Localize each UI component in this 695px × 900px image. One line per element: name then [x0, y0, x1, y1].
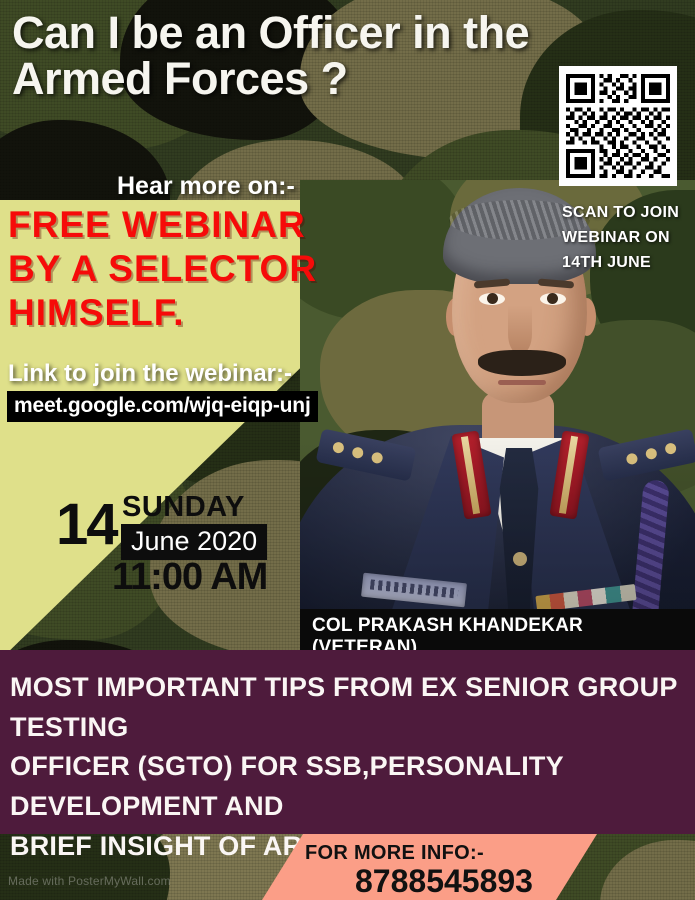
contact-phone[interactable]: 8788545893 [355, 863, 533, 900]
qr-caption: SCAN TO JOIN WEBINAR ON 14TH JUNE [562, 201, 692, 275]
promo-line-2: BY A SELECTOR [8, 247, 378, 291]
qr-code-container[interactable] [559, 66, 677, 186]
description-line-2: OFFICER (SGTO) FOR SSB,PERSONALITY DEVEL… [10, 747, 685, 826]
poster-canvas: Can I be an Officer in the Armed Forces … [0, 0, 695, 900]
qr-caption-line-1: SCAN TO JOIN [562, 201, 692, 226]
event-month-year: June 2020 [121, 524, 267, 560]
page-title: Can I be an Officer in the Armed Forces … [12, 10, 572, 102]
promo-text: FREE WEBINAR BY A SELECTOR HIMSELF. [8, 203, 378, 335]
promo-line-1: FREE WEBINAR [8, 203, 378, 247]
qr-code-icon [566, 73, 670, 179]
event-day-name: SUNDAY [122, 491, 245, 524]
hear-more-label: Hear more on:- [117, 172, 295, 201]
watermark: Made with PosterMyWall.com [8, 874, 171, 888]
webinar-link[interactable]: meet.google.com/wjq-eiqp-unj [7, 391, 318, 422]
description-line-1: MOST IMPORTANT TIPS FROM EX SENIOR GROUP… [10, 668, 685, 747]
link-label: Link to join the webinar:- [8, 360, 292, 388]
headline-line-1: Can I be an Officer in the [12, 7, 529, 58]
event-time: 11:00 AM [112, 556, 267, 599]
event-day-number: 14 [56, 496, 117, 554]
qr-caption-line-2: WEBINAR ON [562, 226, 692, 251]
promo-line-3: HIMSELF. [8, 291, 378, 335]
qr-caption-line-3: 14TH JUNE [562, 251, 692, 276]
headline-line-2: Armed Forces ? [12, 56, 572, 102]
contact-label: FOR MORE INFO:- [305, 842, 484, 865]
